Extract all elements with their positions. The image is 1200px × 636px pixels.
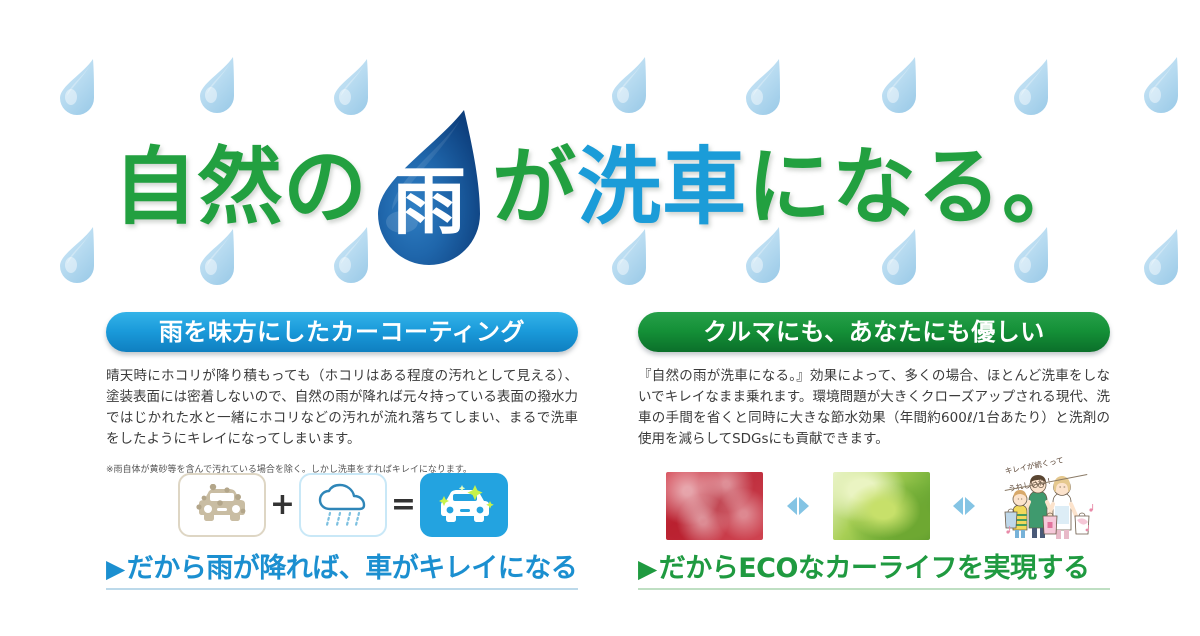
headline-segment-4: 洗車	[577, 133, 747, 241]
right-cta-label: だからECOなカーライフを実現する	[659, 553, 1090, 584]
clean-car-sparkle-icon	[420, 473, 508, 537]
equation-operator-plus: +	[270, 490, 295, 520]
left-cta[interactable]: ▶だから雨が降れば、車がキレイになる	[106, 550, 578, 596]
right-cta-underline	[638, 588, 1110, 590]
rain-cloud-icon	[299, 473, 387, 537]
left-cta-label: だから雨が降れば、車がキレイになる	[127, 553, 578, 584]
headline-segment-3: が	[492, 133, 577, 241]
water-drop-icon	[1140, 226, 1186, 288]
right-cta[interactable]: ▶だからECOなカーライフを実現する	[638, 550, 1110, 596]
left-column: 雨を味方にしたカーコーティング 晴天時にホコリが降り積もっても（ホコリはある程度…	[106, 312, 578, 486]
right-cta-arrow-icon: ▶	[638, 554, 657, 583]
speech-bubble-line-1: キレイが続くって	[1004, 456, 1064, 476]
right-column: クルマにも、あなたにも優しい 『自然の雨が洗車になる。』効果によって、多くの場合…	[638, 312, 1110, 464]
page-title: 自然の雨が洗車になる。	[0, 104, 1200, 214]
double-arrow-icon-2	[951, 493, 977, 519]
equation-diagram: + =	[178, 472, 508, 538]
left-banner: 雨を味方にしたカーコーティング	[106, 312, 578, 352]
water-drop-icon-large: 雨	[368, 104, 490, 270]
equation-operator-equals: =	[391, 490, 416, 520]
right-body-copy: 『自然の雨が洗車になる。』効果によって、多くの場合、ほとんど洗車をしないでキレイ…	[638, 366, 1110, 450]
water-drop-icon	[56, 224, 102, 286]
dirty-car-icon	[178, 473, 266, 537]
headline-segment-1: 自然の	[113, 133, 368, 241]
right-cta-text: ▶だからECOなカーライフを実現する	[638, 550, 1110, 588]
headline-segment-5: になる。	[747, 133, 1087, 241]
water-beading-photo	[666, 472, 763, 540]
double-arrow-icon	[785, 493, 811, 519]
green-leaf-photo	[833, 472, 930, 540]
headline-drop-kanji: 雨	[368, 162, 490, 242]
left-cta-arrow-icon: ▶	[106, 554, 125, 583]
poster-canvas: 自然の雨が洗車になる。 雨を味方にしたカーコーティング 晴天時にホコリが降り積も…	[0, 0, 1200, 636]
right-banner: クルマにも、あなたにも優しい	[638, 312, 1110, 352]
left-cta-underline	[106, 588, 578, 590]
left-cta-text: ▶だから雨が降れば、車がキレイになる	[106, 550, 578, 588]
right-banner-label: クルマにも、あなたにも優しい	[638, 312, 1110, 352]
left-banner-label: 雨を味方にしたカーコーティング	[106, 312, 578, 352]
left-body-copy: 晴天時にホコリが降り積もっても（ホコリはある程度の汚れとして見える）、塗装表面に…	[106, 366, 578, 450]
